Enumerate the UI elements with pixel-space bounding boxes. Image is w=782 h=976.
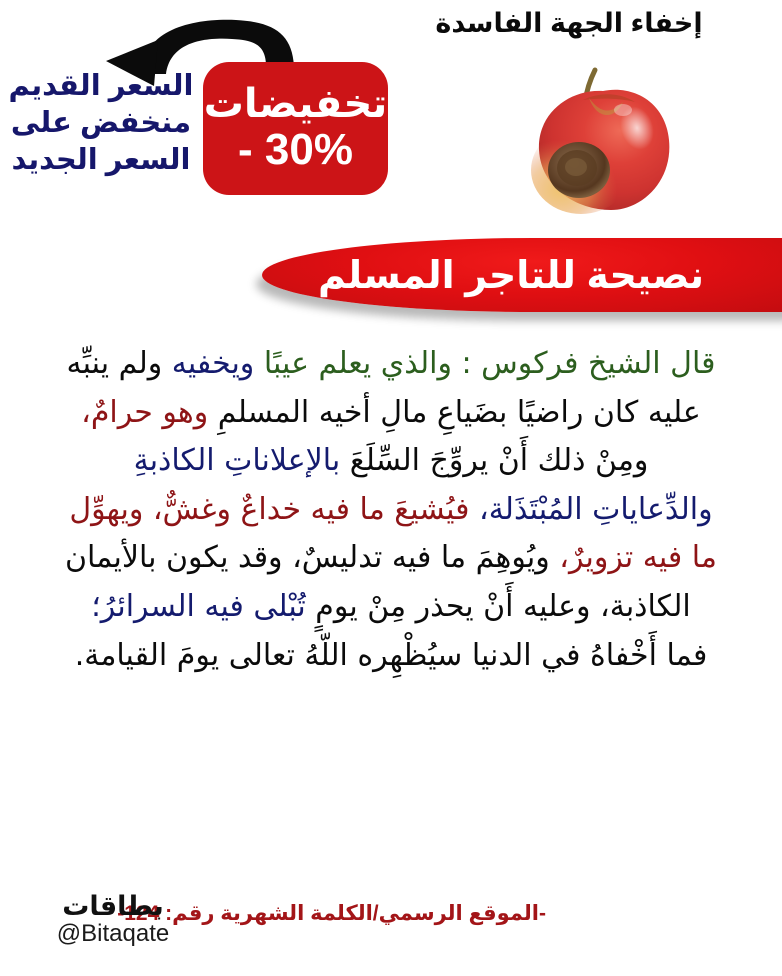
body-segment: ويُوهِمَ ما فيه تدليسٌ، وقد يكون بالأيما… — [65, 540, 559, 575]
title-banner: نصيحة للتاجر المسلم — [262, 238, 782, 312]
body-segment: عليه كان راضيًا بضَياعِ مالِ أخيه المسلم… — [218, 395, 701, 430]
brand-handle: @Bitaqate — [18, 920, 208, 948]
footer: -الموقع الرسمي/الكلمة الشهرية رقم: 124- … — [0, 893, 782, 971]
body-line: عليه كان راضيًا بضَياعِ مالِ أخيه المسلم… — [8, 389, 774, 438]
old-price-note-line3: السعر الجديد — [6, 142, 196, 179]
body-line: قال الشيخ فركوس : والذي يعلم عيبًا ويخفي… — [8, 340, 774, 389]
old-price-note-line1: السعر القديم — [6, 68, 196, 105]
brand-block: بطاقات @Bitaqate — [18, 893, 208, 948]
body-line: والدِّعاياتِ المُبْتَذَلة، فيُشيعَ ما في… — [8, 486, 774, 535]
body-segment: تُبْلى فيه السرائرُ؛ — [91, 589, 315, 624]
infographic-poster: تخفيضات - 30% السعر القديم منخفض على الس… — [0, 0, 782, 976]
body-segment: ويخفيه — [172, 346, 264, 381]
body-line: ما فيه تزويرٌ، ويُوهِمَ ما فيه تدليسٌ، و… — [8, 534, 774, 583]
body-segment: ومِنْ ذلك أَنْ يروِّجَ السِّلَعَ — [350, 443, 649, 478]
rotten-apple-icon — [519, 58, 687, 223]
body-segment: ما فيه تزويرٌ، — [559, 540, 717, 575]
body-segment: قال الشيخ فركوس : والذي يعلم عيبًا — [264, 346, 716, 381]
title-banner-text: نصيحة للتاجر المسلم — [318, 253, 704, 298]
brand-name: بطاقات — [18, 893, 208, 920]
body-segment: الكاذبة، وعليه أَنْ يحذر مِنْ يومٍ — [315, 589, 690, 624]
top-section: تخفيضات - 30% السعر القديم منخفض على الس… — [0, 0, 782, 228]
body-segment: والدِّعاياتِ المُبْتَذَلة، — [479, 492, 713, 527]
body-text: قال الشيخ فركوس : والذي يعلم عيبًا ويخفي… — [8, 340, 774, 680]
body-segment: بالإعلاناتِ الكاذبةِ — [134, 443, 350, 478]
discount-badge-headline: تخفيضات — [204, 84, 388, 125]
body-segment: وهو حرامٌ، — [81, 395, 218, 430]
discount-badge-percent: - 30% — [238, 127, 353, 173]
body-segment: فما أَخْفاهُ في الدنيا سيُظْهِره اللّهُ … — [75, 638, 708, 673]
body-line: فما أَخْفاهُ في الدنيا سيُظْهِره اللّهُ … — [8, 632, 774, 681]
body-line: الكاذبة، وعليه أَنْ يحذر مِنْ يومٍ تُبْل… — [8, 583, 774, 632]
discount-badge: تخفيضات - 30% — [203, 62, 388, 195]
body-segment: فيُشيعَ ما فيه خداعٌ وغشٌّ، ويهوِّل — [69, 492, 479, 527]
body-line: ومِنْ ذلك أَنْ يروِّجَ السِّلَعَ بالإعلا… — [8, 437, 774, 486]
old-price-note: السعر القديم منخفض على السعر الجديد — [6, 68, 196, 179]
body-segment: ولم ينبِّه — [67, 346, 172, 381]
old-price-note-line2: منخفض على — [6, 105, 196, 142]
apple-headline: إخفاء الجهة الفاسدة — [374, 8, 764, 39]
